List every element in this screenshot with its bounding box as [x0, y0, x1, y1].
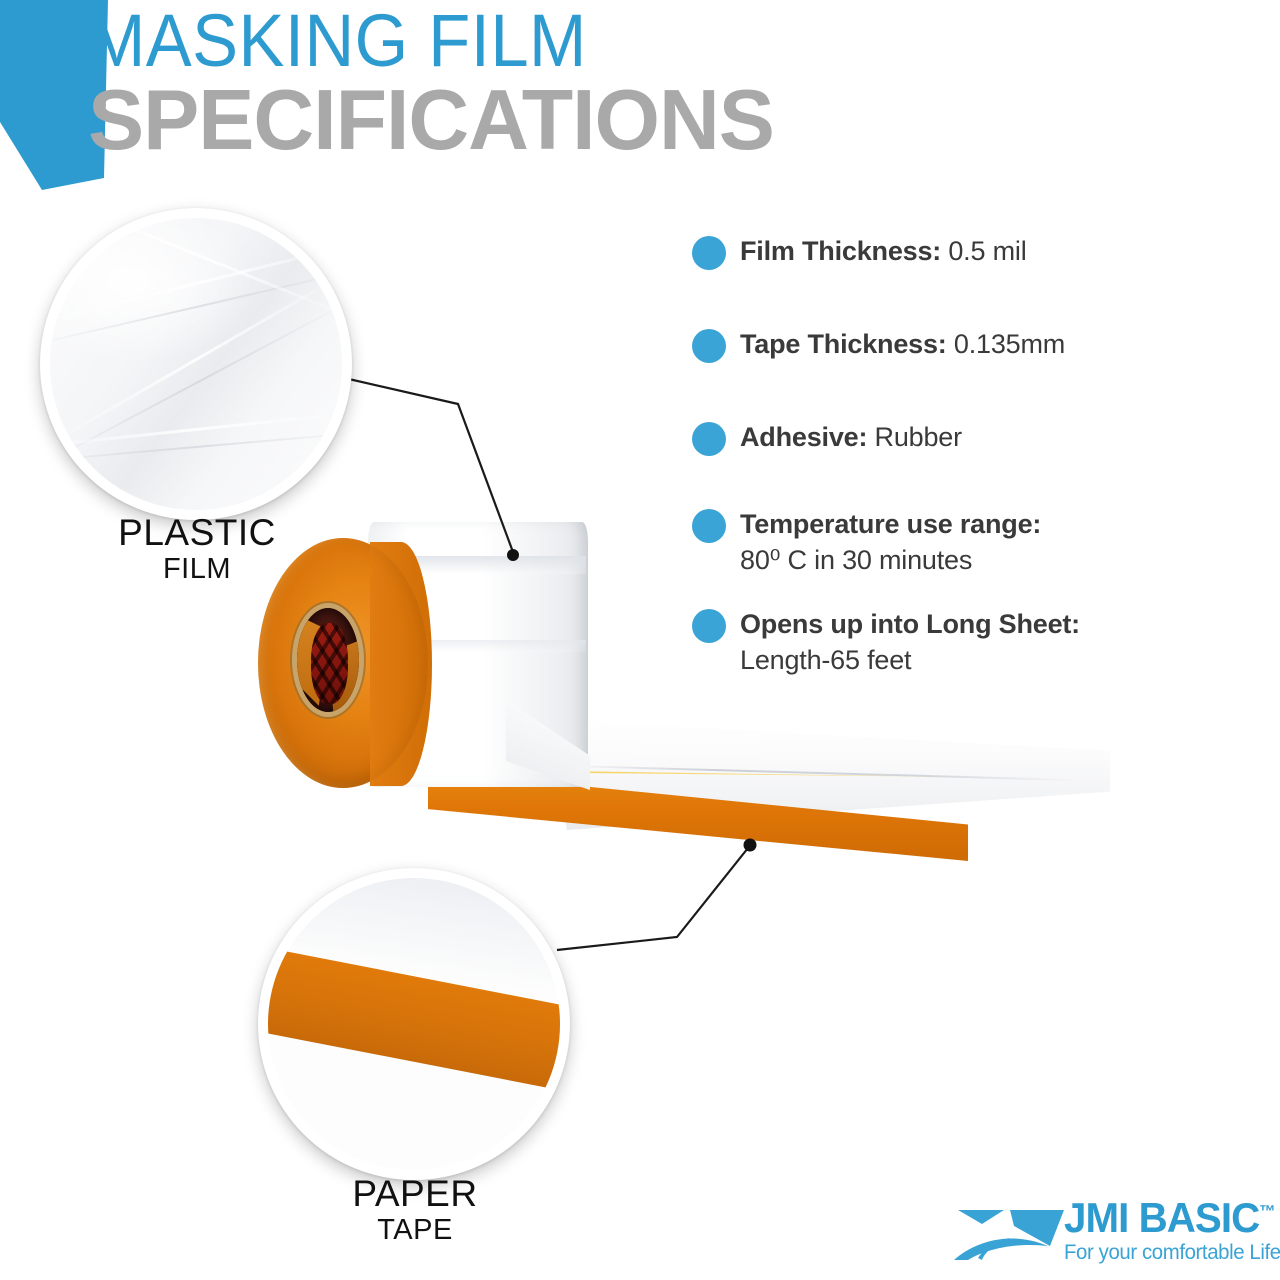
- logo-name: JMI BASIC™: [1064, 1196, 1279, 1240]
- bullet-dot-icon: [692, 509, 726, 543]
- core-inner-pattern: [311, 623, 348, 704]
- plastic-film-texture: [50, 218, 342, 510]
- paper-tape-closeup-icon: [258, 868, 570, 1180]
- spec-row-film-thickness: Film Thickness: 0.5 mil: [692, 233, 1252, 270]
- spec-text: Tape Thickness: 0.135mm: [740, 326, 1065, 362]
- paper-tape-texture: [268, 878, 560, 1170]
- trademark-symbol: ™: [1259, 1202, 1274, 1221]
- spec-text: Film Thickness: 0.5 mil: [740, 233, 1027, 269]
- specifications-list: Film Thickness: 0.5 mil Tape Thickness: …: [692, 233, 1252, 678]
- spec-row-adhesive: Adhesive: Rubber: [692, 419, 1252, 456]
- spec-key: Opens up into Long Sheet:: [740, 609, 1080, 639]
- bullet-dot-icon: [692, 236, 726, 270]
- paper-tape-label: PAPER TAPE: [215, 1174, 615, 1247]
- page-title: MASKING FILM SPECIFICATIONS: [88, 4, 781, 160]
- spec-text: Adhesive: Rubber: [740, 419, 962, 455]
- spec-key: Temperature use range:: [740, 509, 1041, 539]
- spec-value-line2: 80⁰ C in 30 minutes: [740, 542, 1041, 578]
- spec-key: Tape Thickness:: [740, 329, 947, 359]
- jmi-swoosh-icon: [952, 1202, 1068, 1264]
- title-line-specifications: SPECIFICATIONS: [88, 82, 774, 160]
- spec-key: Film Thickness:: [740, 236, 941, 266]
- logo-tagline: For your comfortable Life: [1064, 1241, 1280, 1265]
- roll-core-hole-icon: [297, 608, 359, 712]
- spec-value: 0.135mm: [947, 329, 1065, 359]
- plastic-label-line1: PLASTIC: [0, 513, 397, 553]
- brand-logo: JMI BASIC™ For your comfortable Life: [952, 1198, 1268, 1270]
- spec-row-opens-up-into-long-sheet: Opens up into Long Sheet: Length-65 feet: [692, 606, 1252, 678]
- spec-value: Rubber: [867, 422, 962, 452]
- bullet-dot-icon: [692, 422, 726, 456]
- spec-text: Opens up into Long Sheet: Length-65 feet: [740, 606, 1080, 678]
- paper-label-line2: TAPE: [215, 1214, 615, 1247]
- bullet-dot-icon: [692, 609, 726, 643]
- infographic-page: MASKING FILM SPECIFICATIONS: [0, 0, 1280, 1280]
- spec-row-tape-thickness: Tape Thickness: 0.135mm: [692, 326, 1252, 363]
- plastic-film-closeup-icon: [40, 208, 352, 520]
- bullet-dot-icon: [692, 329, 726, 363]
- spec-key: Adhesive:: [740, 422, 867, 452]
- spec-text: Temperature use range: 80⁰ C in 30 minut…: [740, 506, 1041, 578]
- spec-value-line2: Length-65 feet: [740, 642, 1080, 678]
- logo-wordmark: JMI BASIC™ For your comfortable Life: [1064, 1196, 1280, 1265]
- plastic-film-label: PLASTIC FILM: [0, 513, 397, 586]
- spec-row-temperature-use-range: Temperature use range: 80⁰ C in 30 minut…: [692, 506, 1252, 578]
- plastic-label-line2: FILM: [0, 553, 397, 586]
- title-line-masking-film: MASKING FILM: [88, 4, 732, 78]
- logo-name-text: JMI BASIC: [1064, 1194, 1259, 1241]
- spec-value: 0.5 mil: [941, 236, 1026, 266]
- paper-label-line1: PAPER: [215, 1174, 615, 1214]
